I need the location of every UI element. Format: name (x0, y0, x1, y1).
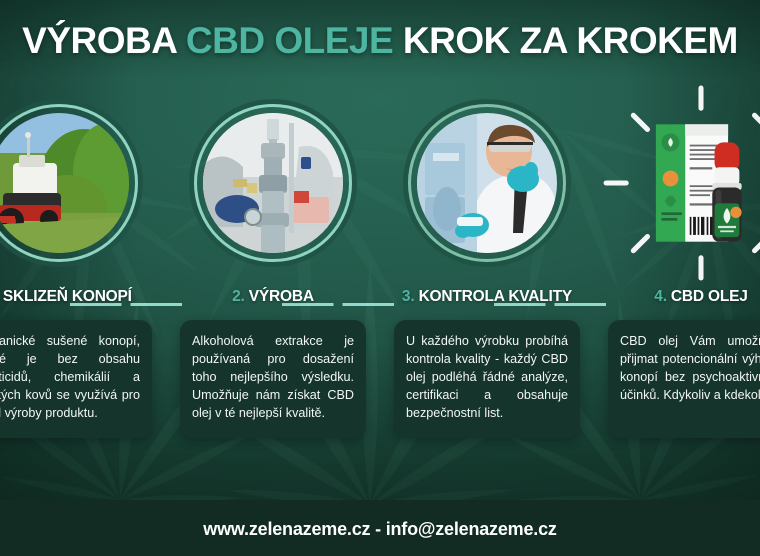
step-1-label: 1. SKLIZEŇ KONOPÍ (0, 288, 132, 306)
step-4-body: CBD olej Vám umožňuje přijmat potencioná… (620, 334, 760, 402)
step-3-ring (408, 104, 566, 262)
step-1-title: SKLIZEŇ KONOPÍ (3, 288, 132, 305)
step-4-title: CBD OLEJ (671, 288, 748, 305)
title-part-one: VÝROBA (22, 20, 186, 61)
step-4: 4. CBD OLEJ CBD olej Vám umožňuje přijma… (594, 104, 760, 438)
step-3: 3. KONTROLA KVALITY U každého výrobku pr… (380, 104, 594, 438)
step-2-title: VÝROBA (249, 288, 314, 305)
title-accent: CBD OLEJE (186, 20, 393, 61)
step-3-body: U každého výrobku probíhá kontrola kvali… (406, 334, 568, 420)
step-1-image-circle (0, 104, 138, 262)
step-3-image-circle (408, 104, 566, 262)
step-2-image-circle (194, 104, 352, 262)
page-title: VÝROBA CBD OLEJE KROK ZA KROKEM (0, 22, 760, 59)
step-4-card: CBD olej Vám umožňuje přijmat potencioná… (608, 320, 760, 438)
step-1-ring (0, 104, 138, 262)
step-3-card: U každého výrobku probíhá kontrola kvali… (394, 320, 580, 438)
step-3-number: 3. (402, 288, 415, 305)
step-2-label: 2. VÝROBA (232, 288, 314, 306)
step-1-body: Organické sušené konopí, které je bez ob… (0, 334, 140, 420)
step-4-label: 4. CBD OLEJ (654, 288, 747, 306)
footer-contact-text: www.zelenazeme.cz - info@zelenazeme.cz (0, 519, 760, 540)
infographic-canvas: VÝROBA CBD OLEJE KROK ZA KROKEM (0, 0, 760, 556)
steps-row: 1. SKLIZEŇ KONOPÍ Organické sušené konop… (0, 104, 760, 438)
title-part-two: KROK ZA KROKEM (393, 20, 738, 61)
step-1: 1. SKLIZEŇ KONOPÍ Organické sušené konop… (0, 104, 166, 438)
step-2-ring (194, 104, 352, 262)
step-2-number: 2. (232, 288, 245, 305)
step-2: 2. VÝROBA Alkoholová extrakce je používa… (166, 104, 380, 438)
step-3-label: 3. KONTROLA KVALITY (402, 288, 572, 306)
step-4-number: 4. (654, 288, 667, 305)
sparkle-burst-icon (600, 82, 760, 284)
step-3-title: KONTROLA KVALITY (419, 288, 573, 305)
step-1-card: Organické sušené konopí, které je bez ob… (0, 320, 152, 438)
step-2-body: Alkoholová extrakce je používaná pro dos… (192, 334, 354, 420)
step-4-image-circle (622, 104, 760, 262)
step-2-card: Alkoholová extrakce je používaná pro dos… (180, 320, 366, 438)
